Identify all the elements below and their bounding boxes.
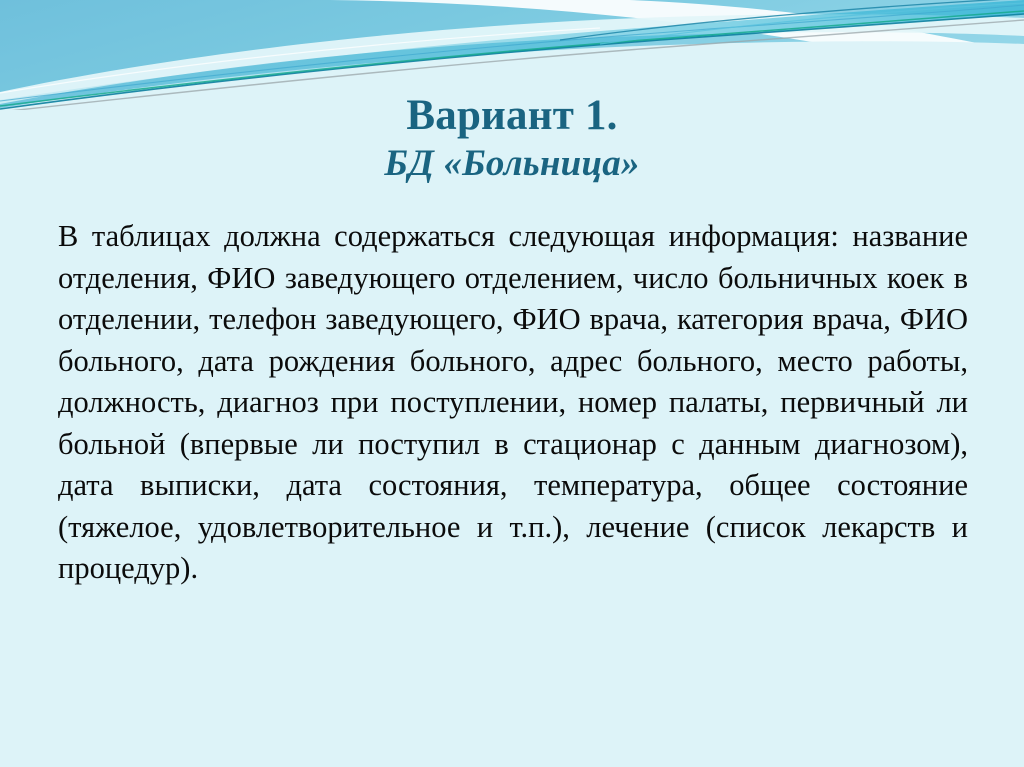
- page-subtitle: БД «Больница»: [0, 143, 1024, 184]
- title-block: Вариант 1. БД «Больница»: [0, 92, 1024, 185]
- presentation-slide: Вариант 1. БД «Больница» В таблицах долж…: [0, 0, 1024, 767]
- body-block: В таблицах должна содержаться следующая …: [58, 216, 968, 631]
- page-title: Вариант 1.: [0, 92, 1024, 140]
- requirements-paragraph: В таблицах должна содержаться следующая …: [58, 216, 968, 631]
